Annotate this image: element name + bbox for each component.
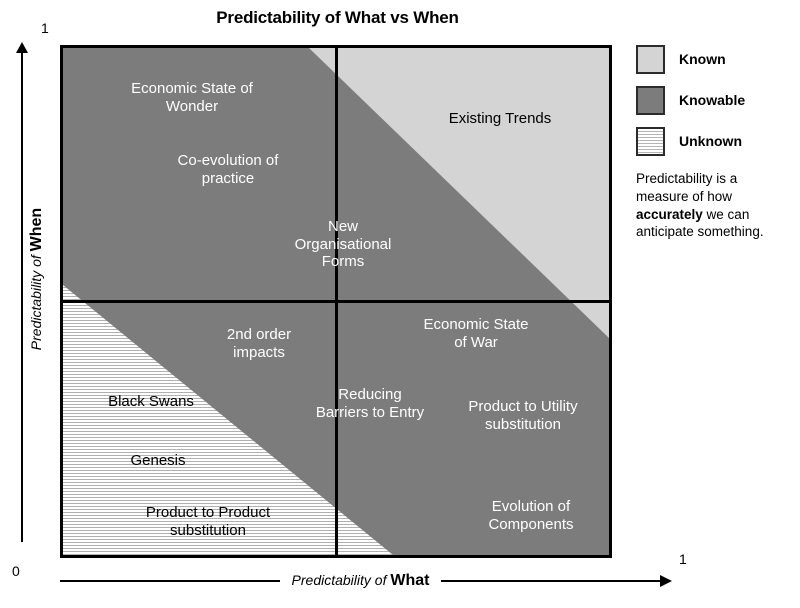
legend-item-unknown[interactable]: Unknown (636, 126, 796, 156)
x-axis-line-left (60, 580, 280, 582)
legend-item-knowable[interactable]: Knowable (636, 85, 796, 115)
page-title: Predictability of What vs When (60, 8, 615, 28)
legend-note-part1: Predictability is a measure of how (636, 171, 737, 204)
y-axis-arrow-icon (21, 52, 23, 542)
quadrant-divider-horizontal-left (63, 300, 338, 303)
x-axis-line-right (441, 580, 661, 582)
x-axis-max-tick: 1 (679, 551, 687, 567)
y-axis-label: Predictability of When (28, 179, 46, 379)
legend-note-emphasis: accurately (636, 207, 703, 222)
legend: Known Knowable Unknown Predictability is… (636, 44, 796, 241)
legend-label-unknown: Unknown (679, 133, 742, 149)
y-axis-label-strong: When (28, 208, 45, 252)
x-axis-min-tick: 0 (12, 563, 20, 579)
plot-area[interactable]: Economic State of Wonder Co-evolution of… (60, 45, 612, 558)
quadrant-divider-horizontal-right (335, 300, 612, 303)
x-axis-label: Predictability of What (280, 572, 442, 590)
legend-note: Predictability is a measure of how accur… (636, 170, 788, 241)
y-axis-label-italic: Predictability of (28, 251, 44, 350)
legend-swatch-unknown-icon (636, 127, 665, 156)
x-axis: Predictability of What (60, 570, 672, 592)
legend-swatch-known-icon (636, 45, 665, 74)
y-axis-max-tick: 1 (41, 20, 49, 36)
x-axis-label-strong: What (390, 572, 429, 589)
x-axis-label-italic: Predictability of (292, 572, 391, 588)
legend-swatch-knowable-icon (636, 86, 665, 115)
legend-label-knowable: Knowable (679, 92, 745, 108)
x-axis-arrow-icon (660, 575, 672, 587)
legend-item-known[interactable]: Known (636, 44, 796, 74)
legend-label-known: Known (679, 51, 726, 67)
